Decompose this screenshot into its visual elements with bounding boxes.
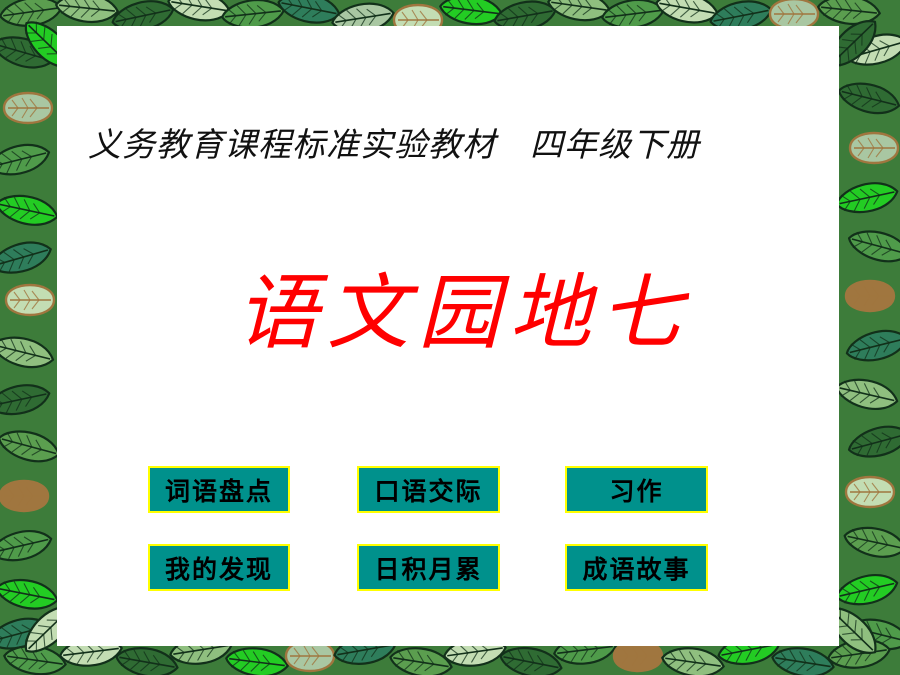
presentation-slide: 义务教育课程标准实验教材 四年级下册 语文园地七 词语盘点 口语交际 习作 我的…	[0, 0, 900, 675]
menu-button-wodefaxian[interactable]: 我的发现	[148, 544, 290, 591]
slide-subtitle: 义务教育课程标准实验教材 四年级下册	[88, 124, 700, 168]
menu-button-rijiyuelei[interactable]: 日积月累	[357, 544, 500, 591]
menu-button-cihuipandian[interactable]: 词语盘点	[148, 466, 290, 513]
section-menu: 词语盘点 口语交际 习作 我的发现 日积月累 成语故事	[148, 466, 708, 591]
menu-button-xizuo[interactable]: 习作	[565, 466, 708, 513]
menu-button-kouyujiaoji[interactable]: 口语交际	[357, 466, 500, 513]
menu-button-chengyugushi[interactable]: 成语故事	[565, 544, 708, 591]
page-title: 语文园地七	[236, 266, 691, 362]
